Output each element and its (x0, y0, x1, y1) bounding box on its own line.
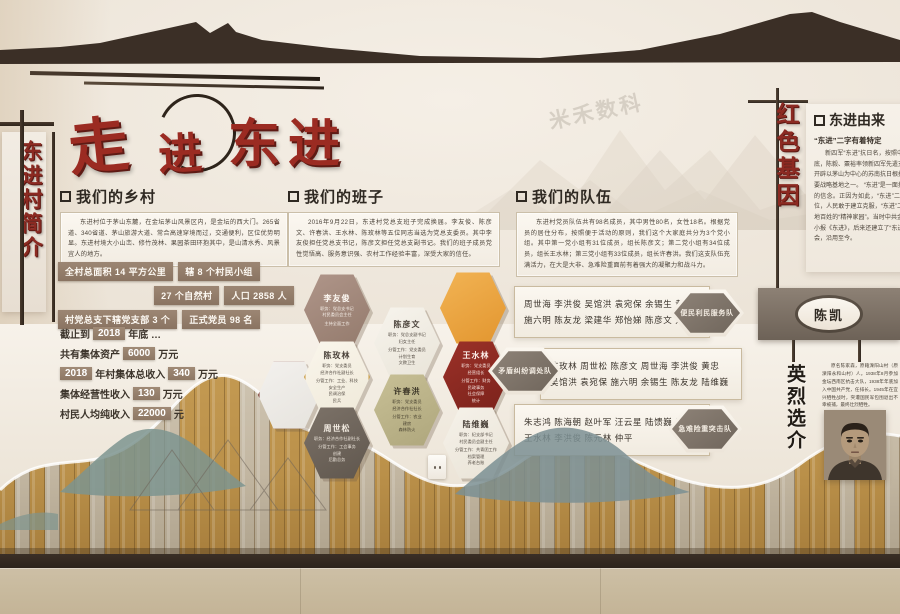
banner-cross-vertical (20, 110, 24, 325)
hex-name: 许春洪 (394, 386, 421, 397)
stat-unit: 元 (174, 406, 184, 421)
stat-operating-income: 集体经营性收入 130 万元 (60, 386, 218, 401)
wood-slat (15, 364, 30, 554)
panel-origin: 东进由来 “东进”二字有着特定 新四军“东进”抗日名，按照中共中央的战略部署，1… (806, 104, 900, 272)
squad-panel-mediation: 陈玫林 周世松 陈彦文 周世海 李洪俊 黄忠 吴馆洪 袁宛保 施六明 余锡生 陈… (540, 348, 742, 400)
power-socket[interactable] (428, 455, 446, 479)
squad-name-row: 陈玫林 周世松 陈彦文 周世海 李洪俊 黄忠 (550, 358, 729, 374)
hex-role: 职务：经济合作社副社长 (314, 436, 360, 443)
main-title: 走 进 东 进 (60, 96, 310, 172)
leadership-hexagon-cluster: 李友俊 职务：党总支书记 村民委员会主任 主持全面工作 陈彦文 职务：党总支副书… (240, 270, 510, 470)
origin-body: 新四军“东进”抗日名，按照中共中央的战略部署，1938年5月底，陈毅、粟裕率领新… (814, 149, 900, 245)
stat-label: 共有集体资产 (60, 346, 120, 361)
section-our-leadership: 我们的班子 2016年9月22日，东进村党总支班子完成换届。李友俊、陈彦文、许春… (288, 186, 500, 267)
squad-name-row: 施六明 陈友龙 梁建华 郑怡娣 陈彦文 刘莹 (524, 312, 694, 328)
left-vertical-banner: 东进村简介 (2, 132, 46, 312)
stat-unit: 年底 … (128, 326, 161, 341)
hex-role2: 妇女主任 (399, 339, 416, 346)
banner-cross-horizontal (0, 122, 54, 126)
martyr-name-plaque: 陈凯 (758, 288, 900, 340)
wall-display-photo: 米禾数科 米禾数科 米禾数科 米禾数科 (0, 0, 900, 614)
section-our-squad: 我们的队伍 东进村党员队伍共有98名成员，其中男性80名，女性18名。根据党员的… (516, 186, 738, 277)
banner-title-village-intro: 东进村简介 (2, 140, 46, 260)
socket-holes-icon (434, 466, 441, 469)
section-village-heading-row: 我们的乡村 (60, 186, 288, 207)
banner-rod-right (52, 132, 55, 322)
title-char-jin1: 进 (156, 117, 203, 183)
red-gene-banner: 红色基因 (760, 98, 802, 278)
martyr-bio: 原名陈家森，原籍溧阳山村（原溧阳永和山村）人。1938年8月参加金坛西南区抗击大… (822, 362, 898, 409)
origin-heading-row: 东进由来 (814, 110, 900, 130)
hex-duty3: 后勤总务 (329, 457, 346, 464)
stat-label: 村民人均纯收入 (60, 406, 130, 421)
stat-value: 22000 (133, 407, 171, 420)
wood-slat (750, 364, 765, 554)
hex-duty3: 森林防火 (399, 427, 416, 434)
wood-slat (765, 364, 780, 554)
stat-value: 2018 (60, 367, 92, 380)
hex-name: 陈彦文 (394, 319, 421, 330)
wood-slat (30, 364, 45, 554)
stat-total-income: 2018 年村集体总收入 340 万元 (60, 366, 218, 381)
hex-name: 李友俊 (324, 293, 351, 304)
origin-lead: “东进”二字有着特定 (814, 135, 900, 146)
stat-cutoff-year: 截止到 2018 年底 … (60, 326, 218, 341)
chip-natural-villages: 27 个自然村 (154, 286, 219, 305)
hex-duty3: 文教卫生 (399, 360, 416, 367)
wood-slat (0, 364, 15, 554)
hex-name: 陆维巍 (463, 419, 490, 430)
wood-slat (45, 364, 60, 554)
martyr-portrait-photo (824, 410, 886, 480)
section-our-village: 我们的乡村 东进村位于茅山东麓，在金坛茅山风景区内，是金坛的西大门。265省道、… (60, 186, 288, 267)
title-char-jin2: 进 (288, 102, 340, 177)
stat-unit: 万元 (158, 346, 178, 361)
hex-duty3: 养老台账 (468, 460, 485, 467)
square-bullet-icon (288, 191, 299, 202)
squad-name-row: 吴馆洪 袁宛保 施六明 余锡生 陈友龙 陆维巍 (550, 374, 729, 390)
hex-role2: 经济合作社副社长 (320, 370, 354, 377)
section-squad-heading: 我们的队伍 (532, 186, 612, 207)
hex-role2: 村民委员会副主任 (459, 439, 493, 446)
section-leadership-text-frame: 2016年9月22日，东进村党总支班子完成换届。李友俊、陈彦文、许春洪、王水林、… (288, 212, 500, 267)
squad-name-row: 周世海 李洪俊 吴馆洪 袁宛保 余锡生 黄忠 (524, 296, 694, 312)
hex-duty2: 主持全面工作 (324, 321, 349, 328)
square-bullet-icon (60, 191, 71, 202)
martyr-section-title: 英烈选介 (782, 364, 809, 452)
village-stat-lines: 截止到 2018 年底 … 共有集体资产 6000 万元 2018 年村集体总收… (60, 326, 218, 426)
portrait-illustration (824, 410, 886, 480)
origin-heading: 东进由来 (829, 110, 885, 130)
hex-role2: 经济合作社社长 (392, 406, 421, 413)
hex-duty4: 民兵 (333, 398, 341, 405)
chip-total-area: 全村总面积 14 平方公里 (58, 262, 173, 281)
hex-name: 周世松 (324, 423, 351, 434)
section-village-body: 东进村位于茅山东麓，在金坛茅山风景区内，是金坛的西大门。265省道、340省道、… (68, 218, 280, 261)
section-squad-heading-row: 我们的队伍 (516, 186, 738, 207)
hex-role2: 村民委员会主任 (322, 312, 351, 319)
stat-unit: 万元 (163, 386, 183, 401)
section-leadership-heading: 我们的班子 (304, 186, 384, 207)
section-leadership-heading-row: 我们的班子 (288, 186, 500, 207)
section-leadership-body: 2016年9月22日，东进村党总支班子完成换届。李友俊、陈彦文、许春洪、王水林、… (296, 218, 492, 261)
title-char-dong: 东 (228, 102, 280, 177)
stat-unit: 年村集体总收入 (95, 366, 165, 381)
stat-label: 截止到 (60, 326, 90, 341)
red-gene-title: 红色基因 (760, 102, 802, 210)
wood-slat (225, 364, 240, 554)
section-squad-body: 东进村党员队伍共有98名成员，其中男性80名，女性18名。根据党员的居住分布，按… (524, 218, 730, 271)
stat-value: 2018 (93, 327, 125, 340)
squad-names: 陈玫林 周世松 陈彦文 周世海 李洪俊 黄忠 吴馆洪 袁宛保 施六明 余锡生 陈… (541, 353, 738, 395)
plaque-stem-left (792, 340, 795, 362)
hex-name: 陈玫林 (324, 350, 351, 361)
stat-per-capita-income: 村民人均纯收入 22000 元 (60, 406, 218, 421)
plaque-stem-right (858, 340, 861, 362)
stat-value: 130 (133, 387, 160, 400)
square-bullet-icon (814, 115, 825, 126)
hex-name: 王水林 (463, 350, 490, 361)
title-char-zou: 走 (64, 95, 133, 188)
section-village-text-frame: 东进村位于茅山东麓，在金坛茅山风景区内，是金坛的西大门。265省道、340省道、… (60, 212, 288, 267)
section-village-heading: 我们的乡村 (76, 186, 156, 207)
stat-collective-assets: 共有集体资产 6000 万元 (60, 346, 218, 361)
floor (0, 568, 900, 614)
section-squad-text-frame: 东进村党员队伍共有98名成员，其中男性80名，女性18名。根据党员的居住分布，按… (516, 212, 738, 277)
hex-duty4: 统计 (472, 398, 480, 405)
stat-unit-2: 万元 (198, 366, 218, 381)
stat-value: 6000 (123, 347, 155, 360)
stat-value-2: 340 (168, 367, 195, 380)
stat-label: 集体经营性收入 (60, 386, 130, 401)
square-bullet-icon (516, 191, 527, 202)
baseboard (0, 554, 900, 568)
martyr-name: 陈凯 (798, 298, 860, 330)
hex-role2: 经营组长 (468, 370, 485, 377)
